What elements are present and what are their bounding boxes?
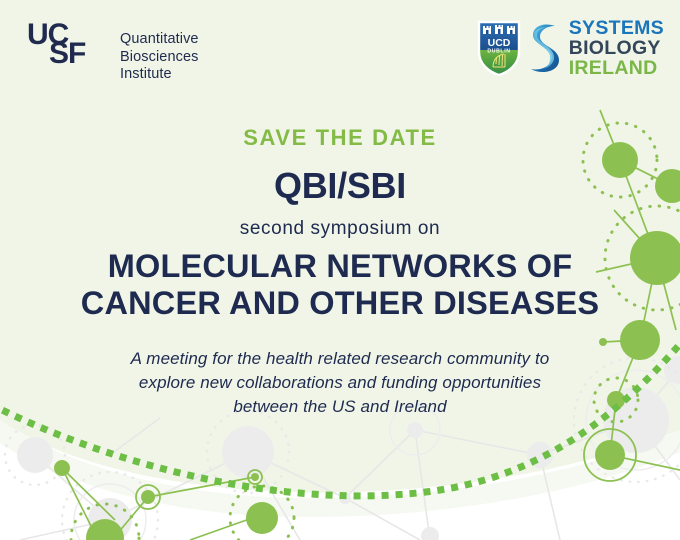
qbi-institute-name: Quantitative Biosciences Institute xyxy=(120,20,199,84)
page-subtitle: second symposium on xyxy=(0,218,680,240)
sbi-line-3: IRELAND xyxy=(569,58,664,78)
sbi-ucd-logo: UCD DUBLIN xyxy=(476,18,664,78)
ucsf-institute-line-2: Biosciences xyxy=(120,49,199,67)
sbi-line-1: SYSTEMS xyxy=(569,18,664,38)
ucsf-wordmark-icon: UC SF xyxy=(27,20,111,67)
event-description-line-2: explore new collaborations and funding o… xyxy=(60,371,620,395)
sbi-swoosh-icon xyxy=(528,19,562,77)
ucsf-institute-line-3: Institute xyxy=(120,66,199,84)
ucsf-qbi-logo: UC SF Quantitative Biosciences Institute xyxy=(27,20,199,84)
ucd-dublin-crest-icon: UCD DUBLIN xyxy=(476,19,522,77)
ucd-crest-line-2: DUBLIN xyxy=(487,49,510,55)
poster-content: UC SF Quantitative Biosciences Institute xyxy=(0,0,680,540)
sbi-wordmark: SYSTEMS BIOLOGY IRELAND xyxy=(568,18,664,78)
save-the-date-eyebrow: SAVE THE DATE xyxy=(0,125,680,151)
save-the-date-poster: UC SF Quantitative Biosciences Institute xyxy=(0,0,680,540)
event-headline: MOLECULAR NETWORKS OF CANCER AND OTHER D… xyxy=(0,248,680,322)
svg-text:SF: SF xyxy=(49,37,86,67)
event-description-line-1: A meeting for the health related researc… xyxy=(60,347,620,371)
event-description: A meeting for the health related researc… xyxy=(60,347,620,419)
sbi-line-2: BIOLOGY xyxy=(569,38,664,58)
event-headline-line-1: MOLECULAR NETWORKS OF xyxy=(0,248,680,285)
ucsf-institute-line-1: Quantitative xyxy=(120,31,199,49)
event-headline-line-2: CANCER AND OTHER DISEASES xyxy=(0,285,680,322)
page-title: QBI/SBI xyxy=(0,165,680,207)
ucd-crest-line-1: UCD xyxy=(487,37,510,49)
event-description-line-3: between the US and Ireland xyxy=(60,395,620,419)
